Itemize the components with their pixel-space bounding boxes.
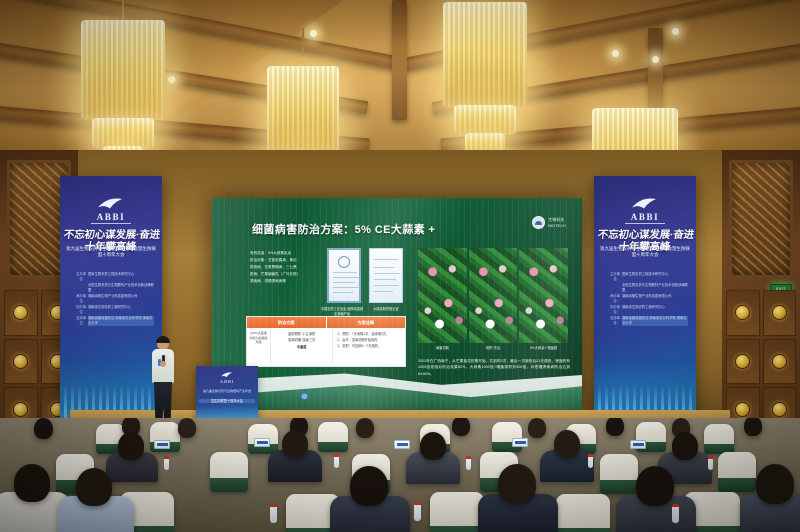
water-bottle	[334, 454, 339, 468]
banner-org-key	[70, 283, 86, 294]
field-photo-caption: 5%大蒜素＋噻菌铜	[519, 345, 568, 350]
presenter	[148, 337, 178, 423]
table-cell-scheme-name: 以5%大蒜素为核心的组合方案	[247, 328, 271, 366]
table-row: 以5%大蒜素为核心的组合方案 苗前预防 小主用药 发病初期 连续三次 中重度 1…	[247, 328, 405, 366]
presenter-hair	[156, 336, 170, 343]
chandelier-tier	[81, 20, 165, 120]
banner-org-value: 湖南省生物农药工程研究中心	[622, 305, 688, 316]
banner-left: ABBI 不忘初心谋发展·奋进十年攀高峰 第九届生物农药与生物肥料产业年会暨生防…	[60, 176, 162, 444]
audience-head	[756, 464, 794, 504]
slide-trial-note: 2021年在广西南宁，从芒果抽花初期开始，共用药3次，最后一次施药后21天调查，…	[418, 358, 570, 377]
led-screen: 细菌病害防治方案：5% CE大蒜素 + 生物科技 BIOTECH 有效含量：5%…	[212, 198, 582, 410]
audience-head	[636, 466, 674, 506]
banner-org-key: 协办单位：	[70, 305, 86, 316]
wall-panel-cell	[726, 290, 760, 336]
water-bottle	[588, 454, 593, 468]
name-card	[254, 438, 270, 447]
carved-wood-wall-panel	[729, 160, 793, 278]
audience-chair	[210, 452, 248, 492]
table-header-cell: 防治方案	[247, 317, 327, 328]
audience-head	[118, 432, 144, 460]
conference-hall-photo: EXIT ABBI 不忘初心谋发展·奋进十年攀高峰 第九届生物农药与生物肥料产业…	[0, 0, 800, 532]
audience-head	[554, 430, 580, 458]
table-cell-line: 3、复配：可连用5～7天施药。	[337, 343, 401, 349]
wall-panel-cell	[763, 290, 797, 336]
wall-panel-cell	[763, 339, 797, 385]
banner-org-key: 支持单位：	[70, 316, 86, 327]
banner-organizer-block: 主办单位：国家生物农药工程技术研究中心 全国生物农药与生物肥料产业技术创新战略联…	[70, 272, 154, 326]
banner-org-value: 国家生物农药工程技术研究中心	[88, 272, 154, 283]
audience-chair	[556, 494, 610, 532]
slide-photo-captions: 病害初期 用药7天后 5%大蒜素＋噻菌铜	[418, 345, 568, 350]
slide-footer-logo: 生物科技	[300, 391, 328, 400]
chandelier-tier	[443, 2, 527, 107]
water-bottle	[164, 456, 169, 470]
audience-head	[420, 432, 446, 460]
table-cell-explanation: 1、预防：7天间隔1次，连续喷2次。 2、治疗：发病初期开始用药。 3、复配：可…	[333, 328, 405, 366]
gold-medallion	[772, 305, 787, 320]
audience-area	[0, 418, 800, 532]
banner-logo-word: ABBI	[97, 212, 125, 222]
audience-chair	[318, 422, 348, 452]
banner-org-value: 湖南省植保植检站 湖南省农业科学院 湖南农业大学	[622, 316, 688, 327]
name-card	[512, 438, 528, 447]
banner-org-row: 承办单位：湖南省微生物产业科技园有限公司	[70, 294, 154, 305]
gold-medallion	[13, 402, 28, 417]
slide-logo-text: 生物科技 BIOTECH	[548, 217, 566, 227]
banner-org-row: 支持单位：湖南省植保植检站 湖南省农业科学院 湖南农业大学	[70, 316, 154, 327]
chandelier	[68, 0, 178, 175]
field-photo-1	[418, 248, 467, 343]
banner-org-key: 主办单位：	[604, 272, 620, 283]
chandelier-tier	[267, 66, 339, 154]
wall-panel-cell	[726, 339, 760, 385]
slide-spec-line: 角斑病、甘蔗黑穗病、三七黑	[250, 264, 320, 271]
dove-bird-icon	[220, 371, 234, 379]
table-cell-scheme-steps: 苗前预防 小主用药 发病初期 连续三次 中重度	[271, 328, 333, 366]
banner-org-value: 湖南省生物农药工程研究中心	[88, 305, 154, 316]
banner-org-value: 全国生物农药与生物肥料产业技术创新战略联盟	[88, 283, 154, 294]
podium-line1: 第九届生物农药与生物肥料产业年会	[199, 389, 255, 393]
audience-head	[606, 418, 624, 436]
banner-org-key: 协办单位：	[604, 305, 620, 316]
chandelier-cord	[302, 28, 304, 56]
chandelier-tier	[454, 105, 516, 135]
dove-bird-icon	[630, 196, 660, 212]
audience-chair	[704, 424, 734, 454]
banner-org-key: 承办单位：	[604, 294, 620, 305]
audience-head	[350, 466, 388, 506]
water-bottle	[672, 504, 679, 523]
audience-head	[282, 430, 308, 458]
banner-org-row: 协办单位：湖南省生物农药工程研究中心	[604, 305, 688, 316]
banner-org-row: 全国生物农药与生物肥料产业技术创新战略联盟	[70, 283, 154, 294]
presentation-slide: 细菌病害防治方案：5% CE大蒜素 + 生物科技 BIOTECH 有效含量：5%…	[212, 198, 582, 410]
footer-mark-icon	[300, 391, 309, 400]
gold-medallion	[735, 354, 750, 369]
ceiling-spotlight	[612, 50, 619, 57]
slide-company-logo: 生物科技 BIOTECH	[532, 216, 566, 229]
company-mark-icon	[532, 216, 545, 229]
ceiling-spotlight	[652, 56, 659, 63]
banner-org-row: 主办单位：国家生物农药工程技术研究中心	[70, 272, 154, 283]
presenter-hand	[160, 361, 166, 367]
banner-logo-rule	[91, 223, 131, 224]
banner-org-key: 支持单位：	[604, 316, 620, 327]
certificate-caption: 大蒜素制剂登记证	[364, 306, 408, 311]
audience-head	[178, 418, 196, 438]
banner-org-key: 主办单位：	[70, 272, 86, 283]
gold-medallion	[13, 354, 28, 369]
audience-head	[744, 418, 762, 436]
audience-head	[76, 468, 112, 506]
banner-org-value: 湖南省微生物产业科技园有限公司	[622, 294, 688, 305]
slide-title: 细菌病害防治方案：5% CE大蒜素 +	[252, 221, 435, 237]
slide-footer-logo-text: 生物科技	[312, 393, 328, 399]
banner-org-row: 主办单位：国家生物农药工程技术研究中心	[604, 272, 688, 283]
audience-chair	[718, 452, 756, 492]
field-photo-caption: 病害初期	[418, 345, 467, 350]
banner-org-value: 全国生物农药与生物肥料产业技术创新战略联盟	[622, 283, 688, 294]
banner-org-value: 国家生物农药工程技术研究中心	[622, 272, 688, 283]
slide-certificates	[327, 248, 403, 303]
gold-medallion	[772, 354, 787, 369]
water-bottle	[708, 456, 713, 470]
dove-bird-icon	[96, 196, 126, 212]
audience-head	[34, 418, 53, 439]
audience-head	[528, 418, 546, 438]
product-certificate	[369, 248, 403, 303]
table-header-row: 防治方案 方案诠释	[247, 317, 405, 328]
audience-chair	[600, 454, 638, 494]
banner-org-key	[604, 283, 620, 294]
banner-subtitle: 第九届生物农药与生物肥料产业年会暨生防联盟十周年大会	[598, 246, 692, 257]
audience-head	[452, 418, 470, 436]
podium-logo-word: ABBI	[220, 379, 234, 384]
name-card	[394, 440, 410, 449]
table-cell-line: 中重度	[274, 344, 329, 350]
slide-spec-line: 有效含量：5%大蒜素乳油	[250, 250, 320, 257]
audience-head	[14, 464, 50, 502]
audience-chair	[430, 492, 484, 532]
water-bottle	[466, 456, 471, 470]
certificate-caption: 中国农药工业协会 团体标准制定参编产品	[320, 306, 364, 316]
chandelier	[430, 0, 540, 164]
slide-spec-line: 防治对象：甘蓝软腐病、黄瓜	[250, 257, 320, 264]
field-photo-2	[469, 248, 518, 343]
wall-panel-cell	[4, 290, 38, 336]
slide-logo-line2: BIOTECH	[548, 223, 566, 228]
gold-medallion	[772, 402, 787, 417]
field-photo-3	[519, 248, 568, 343]
slide-spec-list: 有效含量：5%大蒜素乳油 防治对象：甘蓝软腐病、黄瓜 角斑病、甘蔗黑穗病、三七黑…	[250, 250, 320, 285]
audience-chair	[492, 422, 522, 452]
water-bottle	[270, 504, 277, 523]
slide-spec-line: 溃疡病、柑橘溃疡病等	[250, 278, 320, 285]
table-header-cell: 方案诠释	[327, 317, 406, 328]
banner-organizer-block: 主办单位：国家生物农药工程技术研究中心 全国生物农药与生物肥料产业技术创新战略联…	[604, 272, 688, 326]
audience-head	[498, 464, 536, 504]
chandelier-tier	[92, 118, 154, 148]
slide-treatment-table: 防治方案 方案诠释 以5%大蒜素为核心的组合方案 苗前预防 小主用药 发病初期 …	[246, 316, 406, 367]
wall-panel-cell	[4, 339, 38, 385]
slide-field-photos	[418, 248, 568, 343]
banner-org-row: 承办单位：湖南省微生物产业科技园有限公司	[604, 294, 688, 305]
banner-org-value: 湖南省植保植检站 湖南省农业科学院 湖南农业大学	[88, 316, 154, 327]
certificate-seal-icon	[338, 256, 350, 268]
banner-org-row: 支持单位：湖南省植保植检站 湖南省农业科学院 湖南农业大学	[604, 316, 688, 327]
banner-logo-word: ABBI	[631, 212, 659, 222]
banner-logo-rule	[625, 223, 665, 224]
gold-medallion	[13, 305, 28, 320]
audience-head	[356, 418, 374, 438]
banner-org-value: 湖南省微生物产业科技园有限公司	[88, 294, 154, 305]
presenter-legs	[154, 382, 172, 423]
slide-spec-line: 斑病、芒果细菌性（广叶灰斑）	[250, 271, 320, 278]
banner-subtitle: 第九届生物农药与生物肥料产业年会暨生防联盟十周年大会	[64, 246, 158, 257]
banner-org-key: 承办单位：	[70, 294, 86, 305]
podium-line2: 暨生防联盟十周年大会	[199, 399, 255, 403]
ceiling-spotlight	[310, 30, 317, 37]
banner-org-row: 协办单位：湖南省生物农药工程研究中心	[70, 305, 154, 316]
name-card	[154, 440, 170, 449]
registration-certificate	[327, 248, 361, 303]
gold-medallion	[735, 402, 750, 417]
water-bottle	[414, 502, 421, 521]
audience-head	[672, 432, 698, 460]
name-card	[630, 440, 646, 449]
ceiling-spotlight	[672, 28, 679, 35]
gold-medallion	[735, 305, 750, 320]
banner-right: ABBI 不忘初心谋发展·奋进十年攀高峰 第九届生物农药与生物肥料产业年会暨生防…	[594, 176, 696, 444]
podium-panel: ABBI 第九届生物农药与生物肥料产业年会 暨生防联盟十周年大会	[196, 366, 258, 424]
banner-org-row: 全国生物农药与生物肥料产业技术创新战略联盟	[604, 283, 688, 294]
field-photo-caption: 用药7天后	[469, 345, 518, 350]
